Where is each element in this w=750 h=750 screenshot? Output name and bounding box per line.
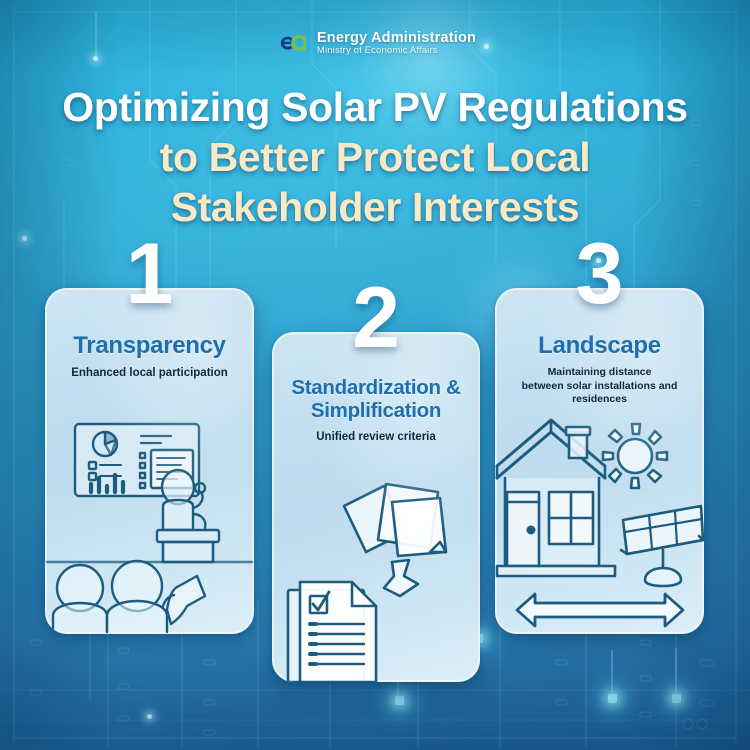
presentation-meeting-icon [45,410,254,634]
house-solar-distance-art [495,414,704,634]
card1-title: Transparency [53,332,246,359]
house-solar-distance-icon [495,414,704,634]
card3-subtitle-line-1: Maintaining distance [503,366,696,379]
circuit-node [608,694,617,703]
card1-heading: Transparency Enhanced local participatio… [53,332,246,381]
card1-number: 1 [45,231,254,317]
card3-number: 3 [495,231,704,317]
documents-to-checklist-art [272,472,480,682]
title-line-3: Stakeholder Interests [0,182,750,232]
card3-subtitle-line-2: between solar installations and [503,380,696,393]
page-title: Optimizing Solar PV Regulations to Bette… [0,82,750,232]
circuit-node [672,694,681,703]
card2-heading: Standardization & Simplification Unified… [280,376,472,444]
brand-text: Energy Administration Ministry of Econom… [317,30,476,57]
presentation-meeting-art [45,410,254,634]
card3-subtitle-line-3: residences [503,393,696,406]
card3-heading: Landscape Maintaining distance between s… [503,332,696,407]
card3-title: Landscape [503,332,696,359]
card-standardization[interactable]: Standardization & Simplification Unified… [272,332,480,682]
circuit-dot [22,236,27,241]
card2-number: 2 [272,275,480,361]
circuit-dot [147,714,152,719]
card2-subtitle: Unified review criteria [280,430,472,445]
card2-title-line-2: Simplification [280,399,472,422]
ea-monogram-logo-icon [274,28,308,58]
card-transparency[interactable]: Transparency Enhanced local participatio… [45,288,254,634]
title-line-2: to Better Protect Local [0,132,750,182]
brand-header: Energy Administration Ministry of Econom… [0,28,750,58]
brand-name: Energy Administration [317,30,476,46]
documents-to-checklist-icon [272,472,480,682]
title-line-1: Optimizing Solar PV Regulations [0,82,750,132]
card1-subtitle: Enhanced local participation [53,366,246,381]
infographic-poster: Energy Administration Ministry of Econom… [0,0,750,750]
circuit-node [395,696,404,705]
brand-ministry: Ministry of Economic Affairs [317,46,476,57]
card-landscape[interactable]: Landscape Maintaining distance between s… [495,288,704,634]
card2-title-line-1: Standardization & [280,376,472,399]
